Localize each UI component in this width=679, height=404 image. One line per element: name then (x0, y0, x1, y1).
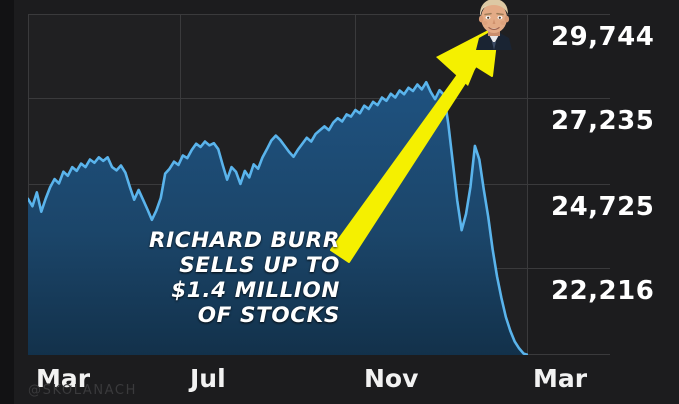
portrait-richard-burr (470, 0, 518, 50)
x-tick-label-3: Mar (533, 364, 587, 393)
y-tick-label-2: 24,725 (551, 192, 654, 222)
y-tick-label-3: 22,216 (551, 276, 654, 306)
annotation-line-3: $1.4 MILLION (40, 278, 340, 303)
y-tick-label-1: 27,235 (551, 106, 654, 136)
chart-screenshot: 29,744 27,235 24,725 22,216 Mar Jul Nov … (0, 0, 679, 404)
annotation-line-2: SELLS UP TO (40, 253, 340, 278)
watermark-handle: @SKOLANACH (28, 383, 137, 398)
x-tick-label-2: Nov (364, 364, 418, 393)
annotation-line-1: RICHARD BURR (40, 228, 340, 253)
annotation-line-4: OF STOCKS (40, 303, 340, 328)
annotation-text: RICHARD BURR SELLS UP TO $1.4 MILLION OF… (40, 228, 340, 328)
x-tick-label-1: Jul (190, 364, 226, 393)
y-tick-label-0: 29,744 (551, 22, 654, 52)
